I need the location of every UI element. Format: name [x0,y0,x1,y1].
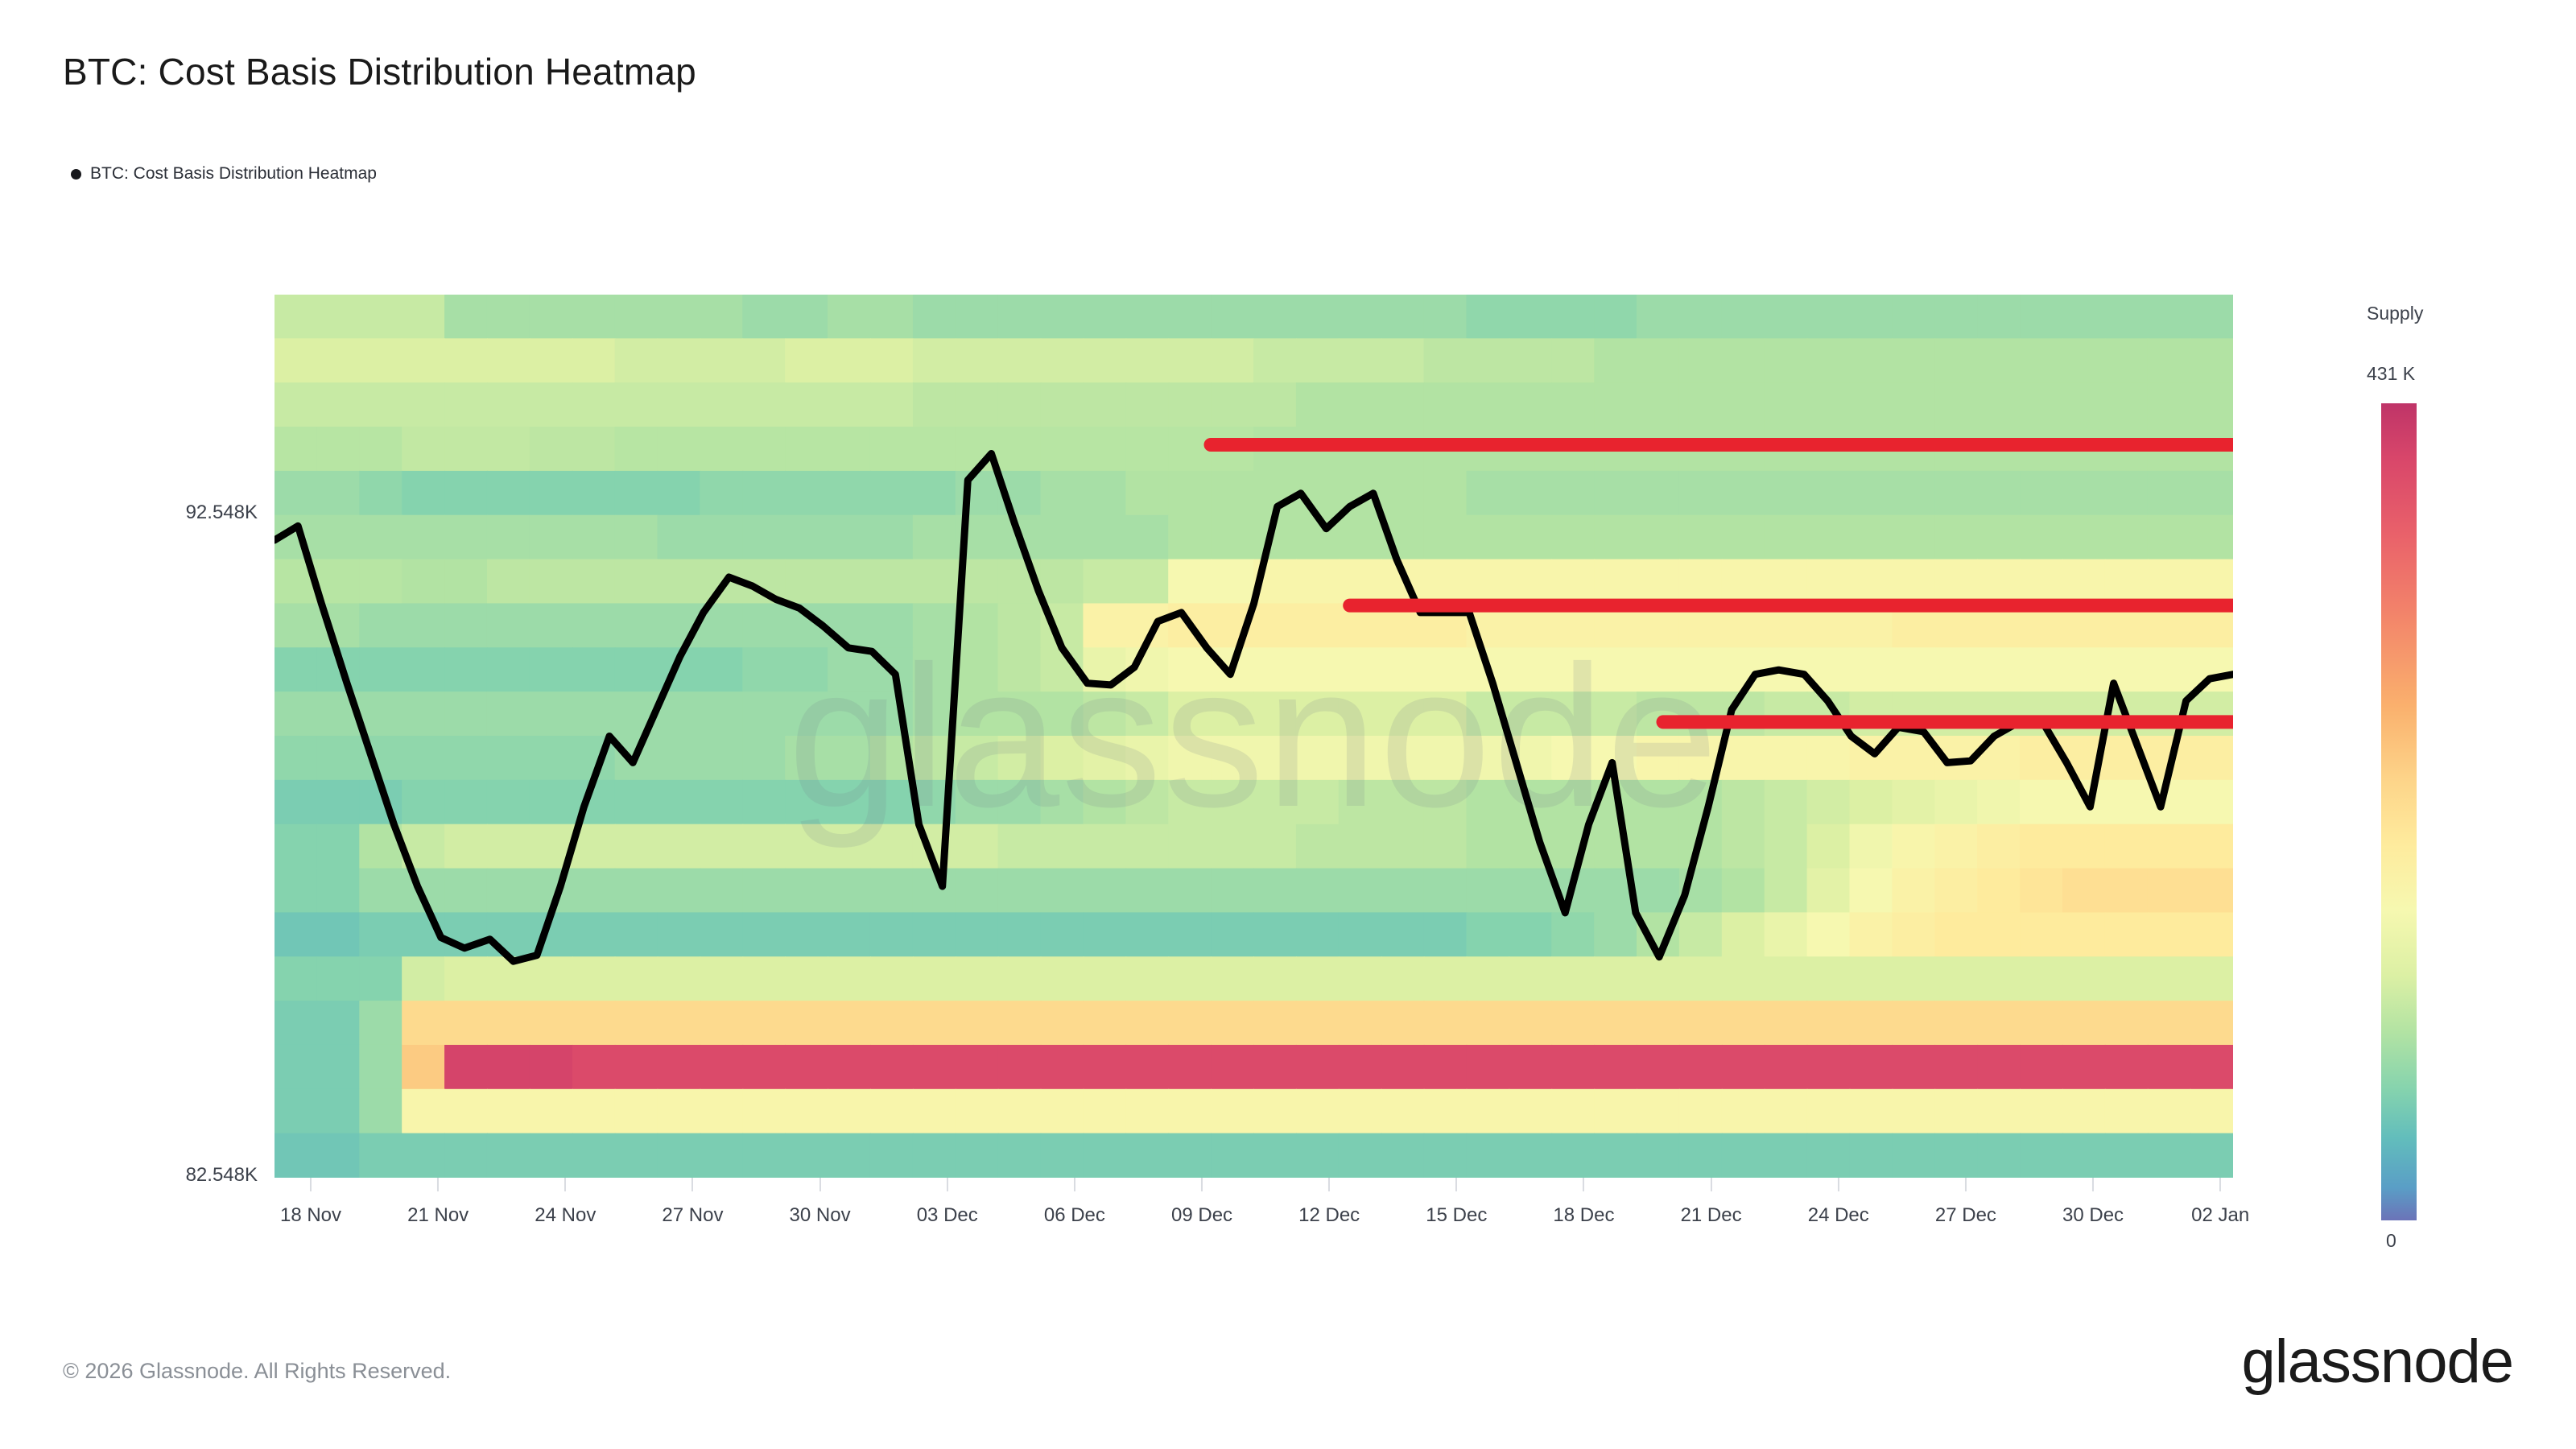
colorbar-gradient [2381,403,2417,1220]
x-tick: 12 Dec [1298,1178,1360,1227]
x-tick-mark [1838,1178,1839,1191]
x-tick-mark [2092,1178,2094,1191]
x-axis: 18 Nov21 Nov24 Nov27 Nov30 Nov03 Dec06 D… [275,1178,2233,1250]
x-tick-label: 27 Dec [1935,1204,1996,1227]
x-tick-mark [691,1178,693,1191]
x-tick: 24 Nov [535,1178,596,1227]
y-tick-label: 92.548K [186,502,258,524]
x-tick-mark [1583,1178,1584,1191]
x-tick-label: 18 Nov [280,1204,341,1227]
glassnode-logo: glassnode [2242,1327,2514,1397]
x-tick: 18 Nov [280,1178,341,1227]
x-tick-label: 21 Nov [407,1204,469,1227]
x-tick: 30 Dec [2062,1178,2124,1227]
x-tick-label: 03 Dec [917,1204,978,1227]
x-tick-label: 21 Dec [1681,1204,1742,1227]
x-tick-mark [819,1178,821,1191]
x-tick-mark [2219,1178,2221,1191]
x-tick-mark [1328,1178,1330,1191]
x-tick: 02 Jan [2191,1178,2249,1227]
x-tick-mark [1965,1178,1967,1191]
x-tick: 27 Nov [662,1178,723,1227]
x-tick-mark [1074,1178,1075,1191]
heatmap-plot-area[interactable]: glassnode [275,295,2233,1178]
x-tick: 03 Dec [917,1178,978,1227]
x-tick-mark [1455,1178,1457,1191]
x-tick: 24 Dec [1808,1178,1869,1227]
x-tick: 21 Nov [407,1178,469,1227]
price-line [275,454,2233,962]
price-line-overlay [275,295,2233,1178]
colorbar-min-label: 0 [2386,1230,2396,1252]
x-tick-label: 02 Jan [2191,1204,2249,1227]
x-tick-label: 24 Nov [535,1204,596,1227]
x-tick-mark [564,1178,566,1191]
chart-page: BTC: Cost Basis Distribution Heatmap BTC… [0,0,2576,1449]
x-tick-label: 27 Nov [662,1204,723,1227]
footer-copyright: © 2026 Glassnode. All Rights Reserved. [63,1359,451,1384]
x-tick: 09 Dec [1171,1178,1232,1227]
x-tick: 15 Dec [1426,1178,1487,1227]
colorbar-title: Supply [2367,303,2423,324]
x-tick: 21 Dec [1681,1178,1742,1227]
x-tick: 27 Dec [1935,1178,1996,1227]
y-axis: 92.548K82.548K [97,0,258,1449]
colorbar-legend[interactable]: Supply 431 K 0 [2367,295,2576,1228]
x-tick-label: 30 Nov [790,1204,851,1227]
x-tick-mark [1711,1178,1712,1191]
x-tick: 06 Dec [1044,1178,1105,1227]
x-tick-label: 06 Dec [1044,1204,1105,1227]
x-tick-label: 09 Dec [1171,1204,1232,1227]
x-tick: 30 Nov [790,1178,851,1227]
legend-marker-icon [71,169,81,180]
x-tick-mark [947,1178,948,1191]
x-tick-label: 15 Dec [1426,1204,1487,1227]
x-tick-label: 24 Dec [1808,1204,1869,1227]
colorbar-max-label: 431 K [2367,363,2415,385]
x-tick-label: 12 Dec [1298,1204,1360,1227]
x-tick-mark [437,1178,439,1191]
x-tick-mark [310,1178,312,1191]
x-tick-label: 18 Dec [1553,1204,1614,1227]
x-tick-mark [1201,1178,1203,1191]
x-tick-label: 30 Dec [2062,1204,2124,1227]
y-tick-label: 82.548K [186,1164,258,1187]
x-tick: 18 Dec [1553,1178,1614,1227]
